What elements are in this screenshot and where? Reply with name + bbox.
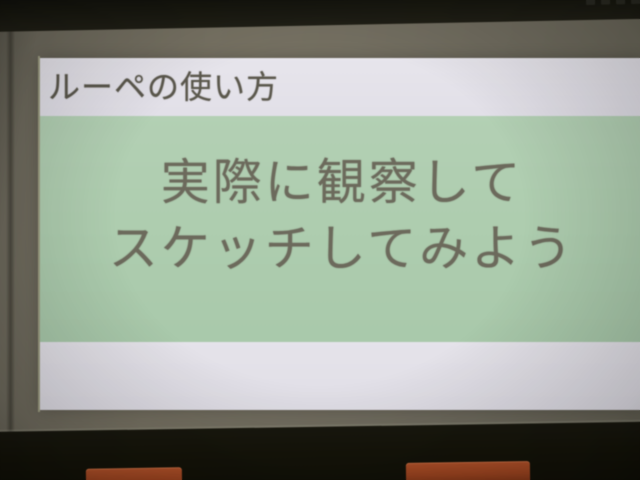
slide-title: ルーペの使い方: [48, 66, 279, 108]
slide-footer-band: [40, 342, 640, 410]
ceiling-light-3: [616, 0, 625, 4]
slide-body-text: 実際に観察して スケッチしてみよう: [40, 150, 640, 282]
slide-body-line-1: 実際に観察して: [40, 150, 640, 216]
ceiling-light-1: [586, 0, 595, 5]
chair-left: [86, 467, 182, 480]
ceiling-light-4: [631, 0, 640, 4]
slide-body-line-2: スケッチしてみよう: [40, 216, 640, 282]
ceiling-light-2: [601, 0, 610, 5]
projected-slide: ルーペの使い方 実際に観察して スケッチしてみよう: [40, 58, 640, 410]
photo-frame: ルーペの使い方 実際に観察して スケッチしてみよう: [0, 0, 640, 480]
wall-seam: [6, 24, 15, 444]
chair-right: [406, 461, 530, 480]
